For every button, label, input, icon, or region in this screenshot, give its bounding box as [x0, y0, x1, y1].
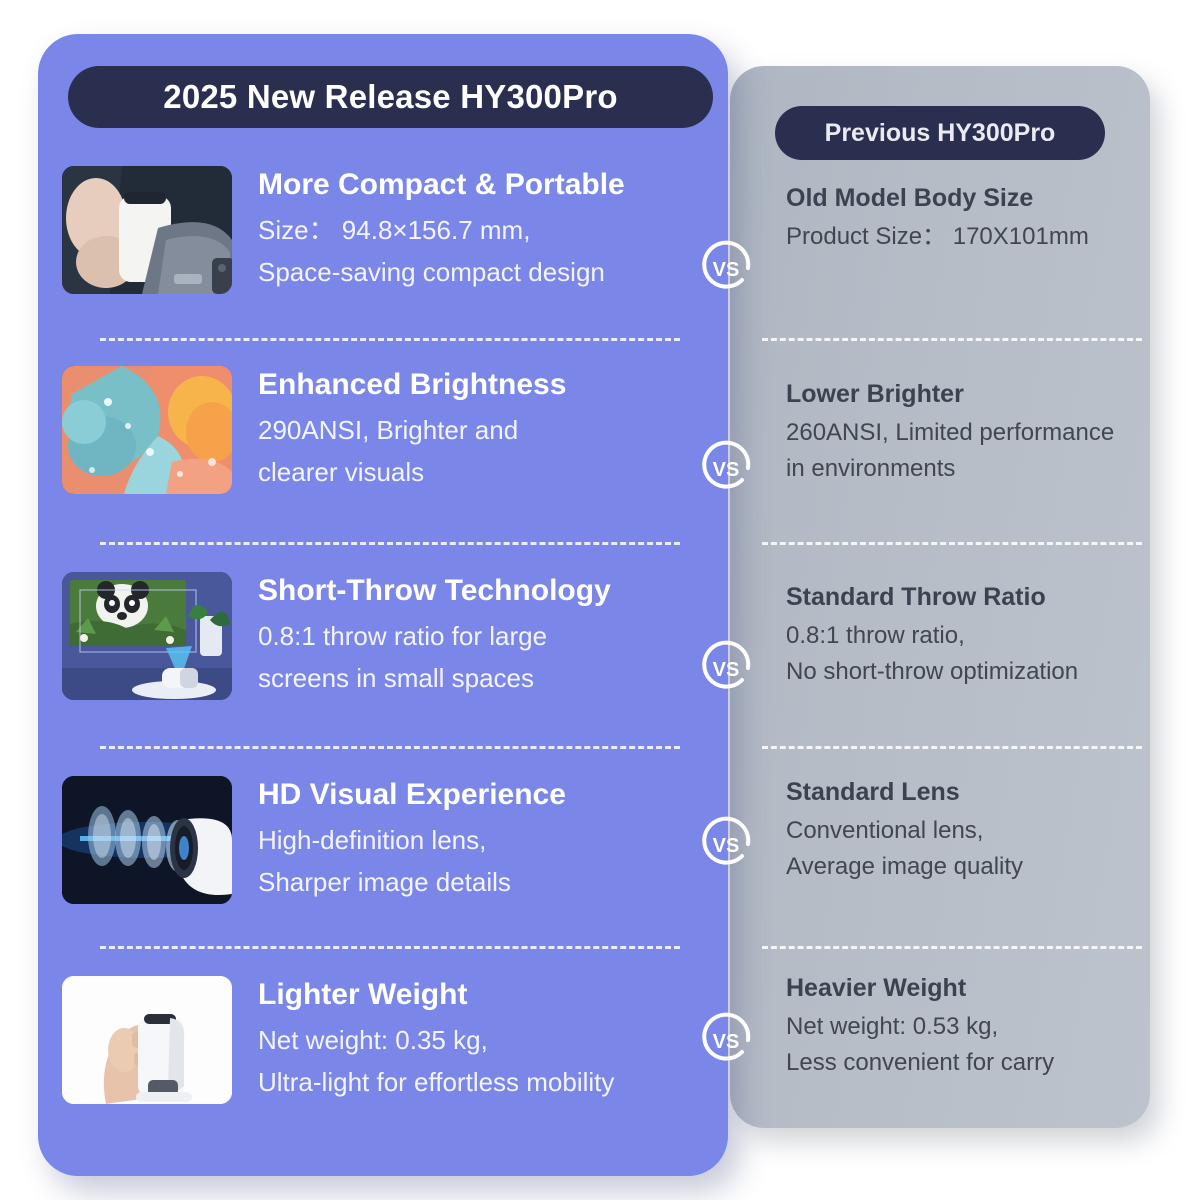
vs-badge-5: VS — [698, 1012, 754, 1068]
projector-panda-projection-photo — [62, 572, 232, 700]
old-feature-line2-2: in environments — [786, 451, 1146, 487]
old-feature-row-3: Standard Throw Ratio 0.8:1 throw ratio, … — [786, 583, 1146, 691]
old-feature-line1-5: Net weight: 0.53 kg, — [786, 1009, 1146, 1045]
old-feature-line2-4: Average image quality — [786, 849, 1146, 885]
new-feature-line1-4: High-definition lens, — [258, 819, 692, 861]
old-feature-row-1: Old Model Body Size Product Size： 170X10… — [786, 184, 1146, 255]
vs-label-5: VS — [713, 1031, 740, 1053]
old-feature-heading-1: Old Model Body Size — [786, 184, 1146, 213]
old-feature-line1-1: Product Size： 170X101mm — [786, 219, 1146, 255]
vs-label-3: VS — [713, 659, 740, 681]
old-feature-heading-5: Heavier Weight — [786, 974, 1146, 1003]
new-feature-heading-3: Short-Throw Technology — [258, 574, 692, 607]
new-feature-row-4: HD Visual Experience High-definition len… — [62, 776, 692, 922]
old-feature-row-4: Standard Lens Conventional lens, Average… — [786, 778, 1146, 886]
new-feature-line2-4: Sharper image details — [258, 861, 692, 903]
vs-badge-4: VS — [698, 816, 754, 872]
old-divider-4 — [762, 946, 1142, 949]
old-feature-line2-5: Less convenient for carry — [786, 1045, 1146, 1081]
new-feature-line2-3: screens in small spaces — [258, 657, 692, 699]
vs-label-1: VS — [713, 259, 740, 281]
vs-label-2: VS — [713, 459, 740, 481]
old-feature-heading-3: Standard Throw Ratio — [786, 583, 1146, 612]
new-release-title-badge: 2025 New Release HY300Pro — [68, 66, 713, 128]
new-divider-4 — [100, 946, 680, 949]
old-feature-line1-2: 260ANSI, Limited performance — [786, 415, 1146, 451]
new-feature-line2-2: clearer visuals — [258, 451, 692, 493]
old-feature-line2-3: No short-throw optimization — [786, 654, 1146, 690]
old-divider-3 — [762, 746, 1142, 749]
new-divider-2 — [100, 542, 680, 545]
new-feature-line1-5: Net weight: 0.35 kg, — [258, 1019, 692, 1061]
old-feature-row-2: Lower Brighter 260ANSI, Limited performa… — [786, 380, 1146, 488]
new-feature-text-5: Lighter Weight Net weight: 0.35 kg, Ultr… — [258, 976, 692, 1103]
old-feature-heading-2: Lower Brighter — [786, 380, 1146, 409]
vs-label-4: VS — [713, 835, 740, 857]
old-feature-line1-3: 0.8:1 throw ratio, — [786, 618, 1146, 654]
new-feature-line1-2: 290ANSI, Brighter and — [258, 409, 692, 451]
vs-badge-1: VS — [698, 240, 754, 296]
projector-in-backpack-photo — [62, 166, 232, 294]
new-feature-heading-5: Lighter Weight — [258, 978, 692, 1011]
vs-badge-3: VS — [698, 640, 754, 696]
new-divider-1 — [100, 338, 680, 341]
old-divider-1 — [762, 338, 1142, 341]
vs-badge-2: VS — [698, 440, 754, 496]
hand-holding-projector-photo — [62, 976, 232, 1104]
glossy-flower-petals-photo — [62, 366, 232, 494]
new-feature-line1-3: 0.8:1 throw ratio for large — [258, 615, 692, 657]
new-feature-heading-1: More Compact & Portable — [258, 168, 692, 201]
comparison-infographic: 2025 New Release HY300Pro Previous HY300… — [0, 0, 1200, 1200]
new-feature-line1-1: Size： 94.8×156.7 mm, — [258, 209, 692, 251]
previous-model-title-badge: Previous HY300Pro — [775, 106, 1105, 160]
exploded-lens-optics-photo — [62, 776, 232, 904]
new-feature-line2-1: Space-saving compact design — [258, 251, 692, 293]
old-feature-line1-4: Conventional lens, — [786, 813, 1146, 849]
new-feature-row-5: Lighter Weight Net weight: 0.35 kg, Ultr… — [62, 976, 692, 1122]
new-feature-line2-5: Ultra-light for effortless mobility — [258, 1061, 692, 1103]
new-feature-text-2: Enhanced Brightness 290ANSI, Brighter an… — [258, 366, 692, 493]
new-feature-text-1: More Compact & Portable Size： 94.8×156.7… — [258, 166, 692, 293]
old-divider-2 — [762, 542, 1142, 545]
new-feature-text-3: Short-Throw Technology 0.8:1 throw ratio… — [258, 572, 692, 699]
new-feature-heading-4: HD Visual Experience — [258, 778, 692, 811]
old-feature-heading-4: Standard Lens — [786, 778, 1146, 807]
new-feature-text-4: HD Visual Experience High-definition len… — [258, 776, 692, 903]
new-feature-heading-2: Enhanced Brightness — [258, 368, 692, 401]
new-divider-3 — [100, 746, 680, 749]
new-feature-row-3: Short-Throw Technology 0.8:1 throw ratio… — [62, 572, 692, 718]
new-feature-row-1: More Compact & Portable Size： 94.8×156.7… — [62, 166, 692, 312]
old-feature-row-5: Heavier Weight Net weight: 0.53 kg, Less… — [786, 974, 1146, 1082]
new-feature-row-2: Enhanced Brightness 290ANSI, Brighter an… — [62, 366, 692, 512]
